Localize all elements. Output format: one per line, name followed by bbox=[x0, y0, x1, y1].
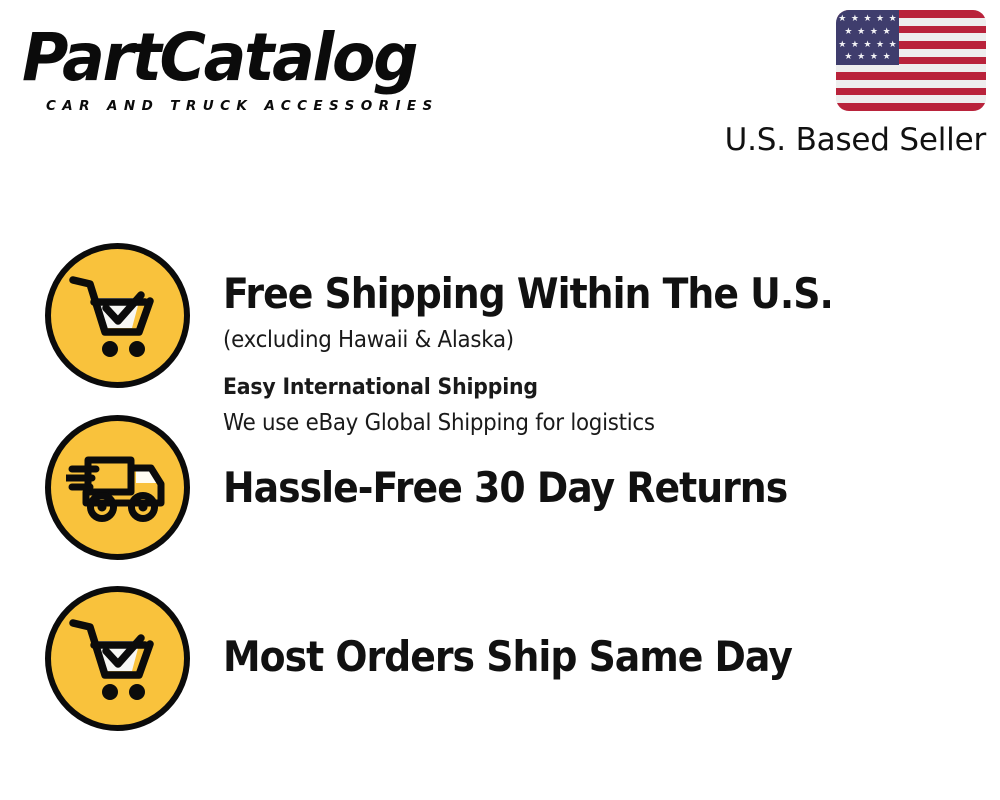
brand-tagline: CAR AND TRUCK ACCESSORIES bbox=[46, 98, 496, 114]
feature-row: Hassle-Free 30 Day Returns bbox=[0, 415, 1000, 587]
us-flag-icon: ★★★★★ ★★★★ ★★★★★ ★★★★ bbox=[836, 10, 986, 111]
brand-wordmark: PartCatalog bbox=[22, 22, 473, 94]
us-based-seller-badge: ★★★★★ ★★★★ ★★★★★ ★★★★ U.S. Based Seller bbox=[706, 10, 986, 165]
flag-star-row: ★★★★ bbox=[836, 26, 899, 37]
feature-text-block: Hassle-Free 30 Day Returns bbox=[223, 463, 983, 513]
flag-star-row: ★★★★★ bbox=[836, 13, 899, 24]
feature-list: Free Shipping Within The U.S. (excluding… bbox=[0, 180, 1000, 800]
flag-star-row: ★★★★★ bbox=[836, 39, 899, 50]
promo-banner: PartCatalog CAR AND TRUCK ACCESSORIES ★★… bbox=[0, 0, 1000, 800]
feature-title: Hassle-Free 30 Day Returns bbox=[223, 463, 907, 513]
partcatalog-logo: PartCatalog CAR AND TRUCK ACCESSORIES bbox=[22, 22, 492, 117]
shopping-cart-check-icon bbox=[45, 243, 190, 388]
flag-canton: ★★★★★ ★★★★ ★★★★★ ★★★★ bbox=[836, 10, 899, 65]
shopping-cart-check-icon bbox=[45, 586, 190, 731]
delivery-truck-icon bbox=[45, 415, 190, 560]
feature-title: Most Orders Ship Same Day bbox=[223, 632, 907, 682]
feature-subtitle-bold: Easy International Shipping bbox=[223, 371, 930, 405]
feature-text-block: Most Orders Ship Same Day bbox=[223, 632, 983, 682]
us-based-seller-label: U.S. Based Seller bbox=[706, 120, 986, 160]
feature-row: Most Orders Ship Same Day bbox=[0, 586, 1000, 758]
feature-row: Free Shipping Within The U.S. (excluding… bbox=[0, 243, 1000, 415]
banner-header: PartCatalog CAR AND TRUCK ACCESSORIES ★★… bbox=[0, 0, 1000, 175]
feature-title: Free Shipping Within The U.S. bbox=[223, 269, 907, 319]
flag-star-row: ★★★★ bbox=[836, 51, 899, 62]
feature-subtitle: (excluding Hawaii & Alaska) bbox=[223, 323, 930, 357]
